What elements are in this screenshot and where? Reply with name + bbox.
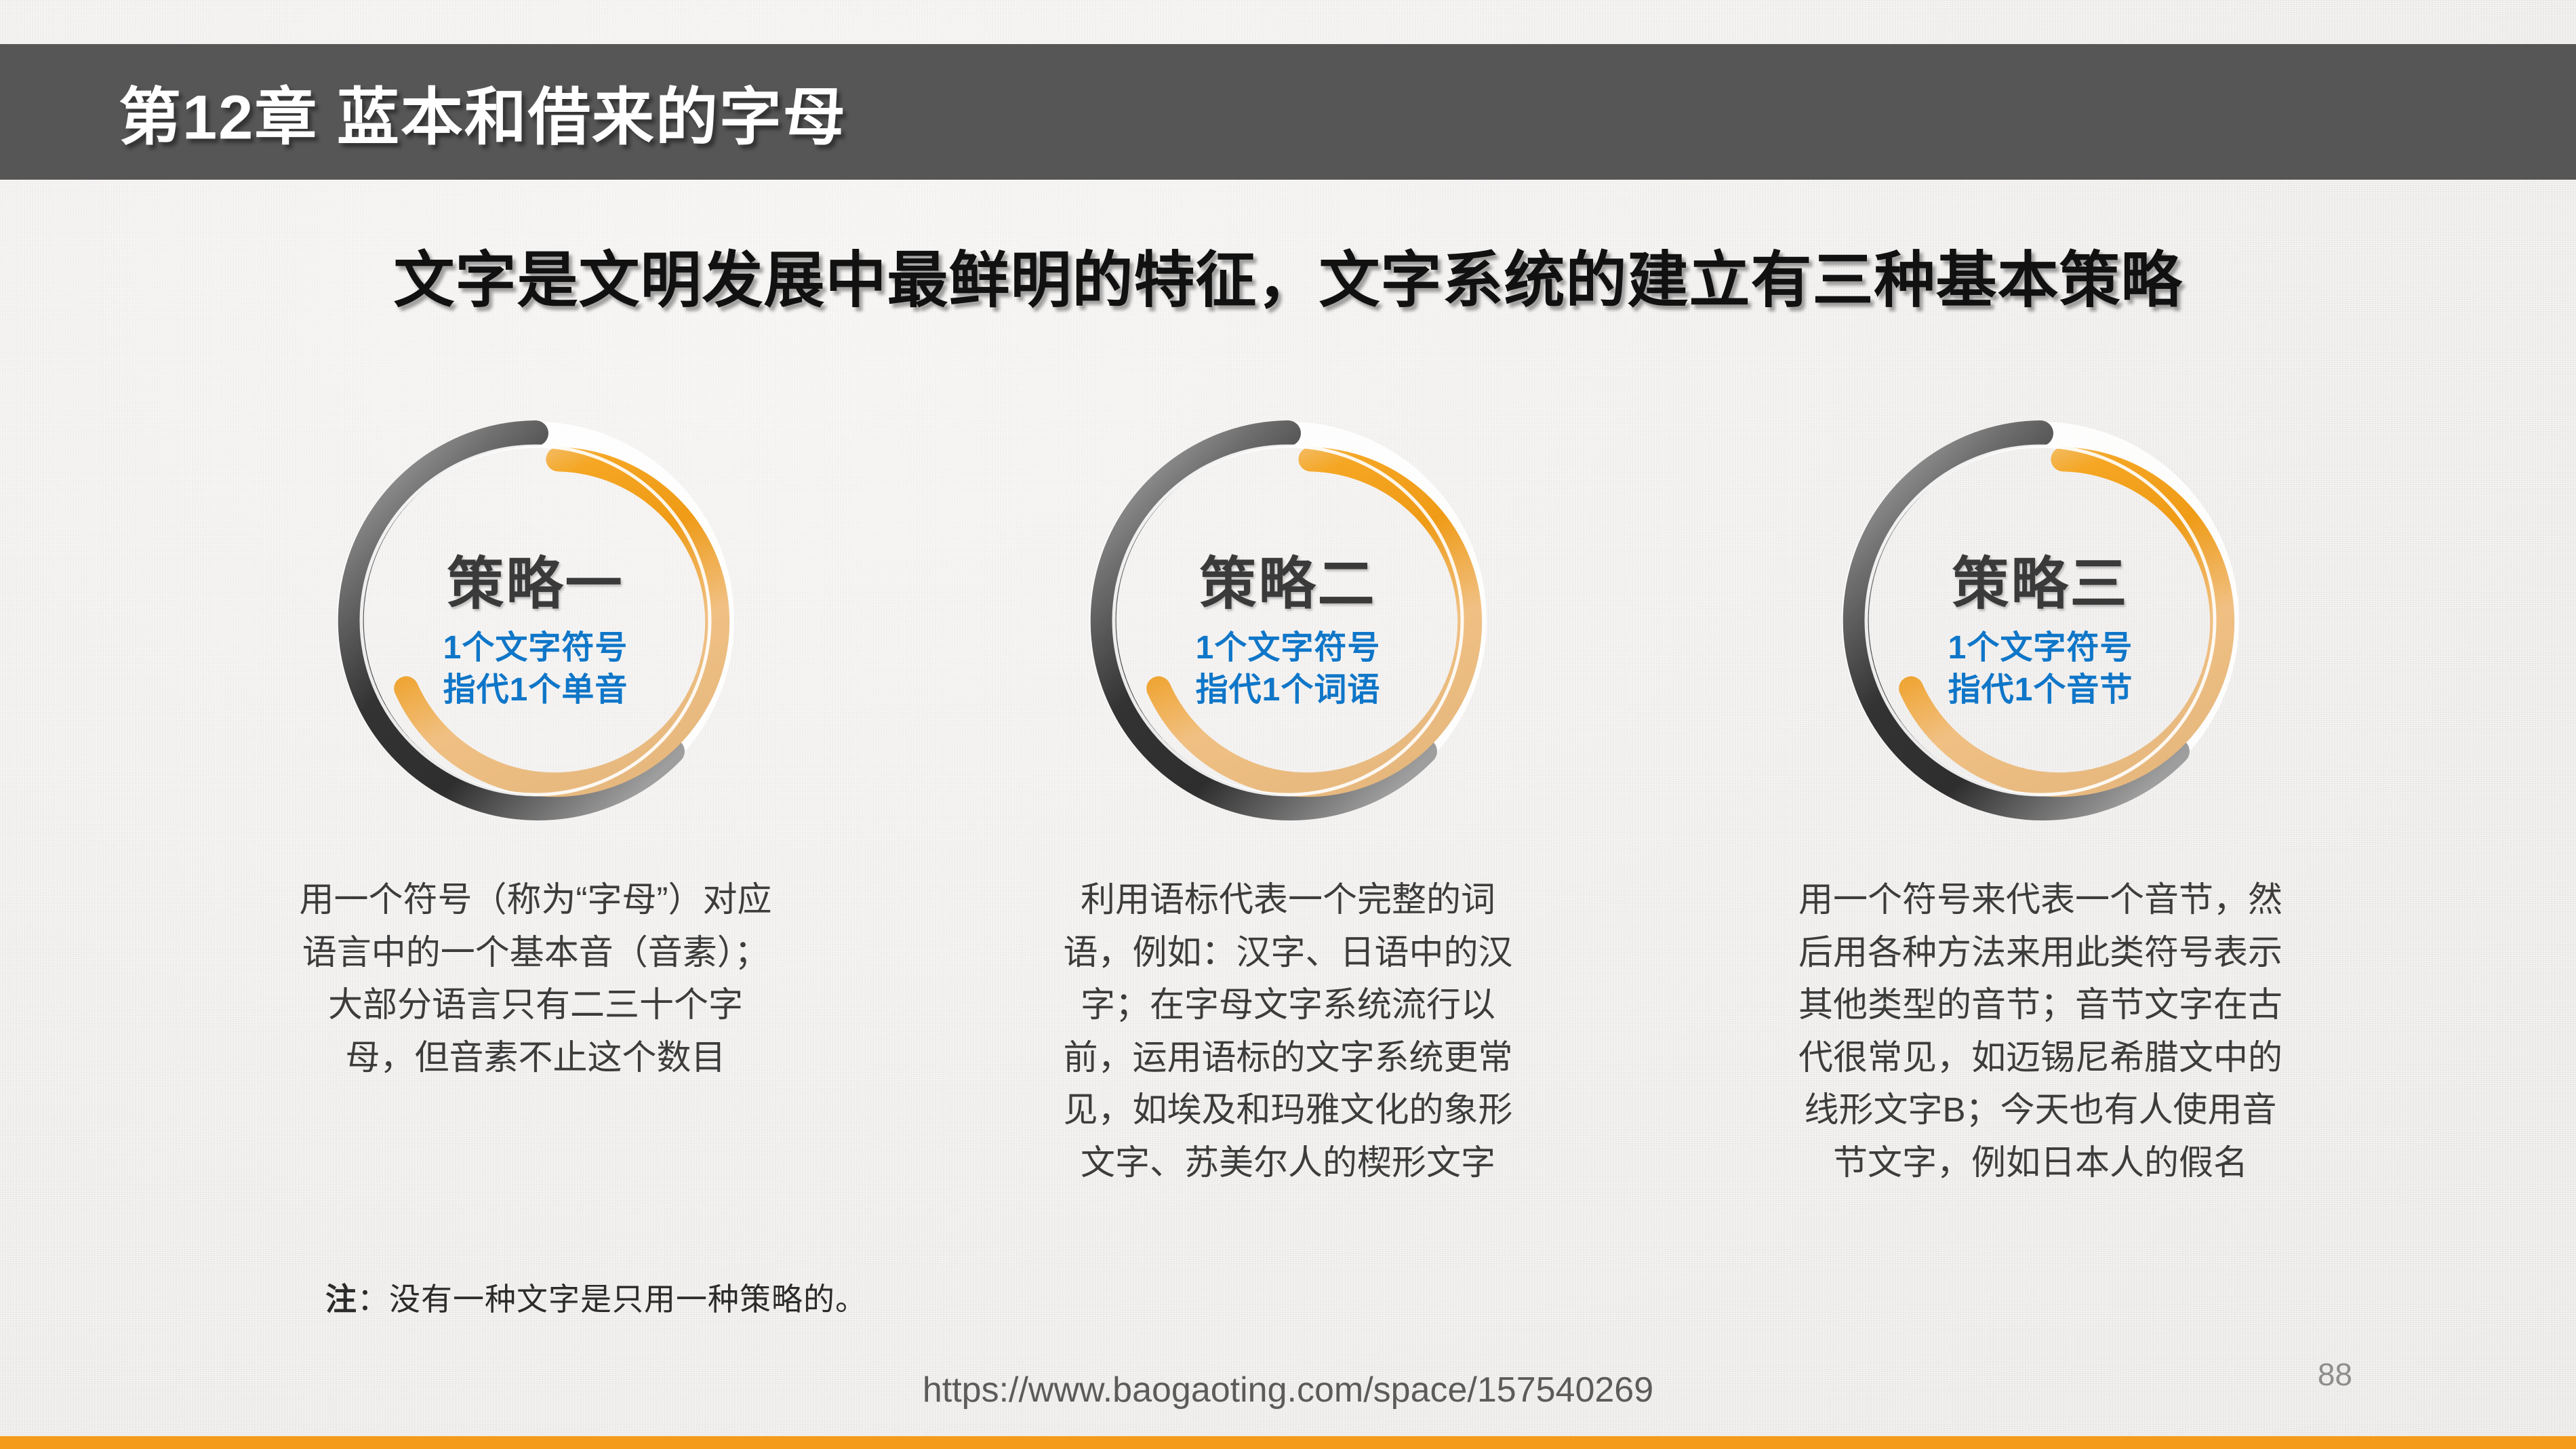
strategy-subtitle-line2: 指代1个词语 [1196,669,1381,711]
strategy-subtitle-2: 1个文字符号 指代1个词语 [1196,627,1381,712]
chapter-title: 第12章 蓝本和借来的字母 [119,67,847,157]
strategy-title-3: 策略三 [1952,554,2129,614]
page-number: 88 [2318,1356,2352,1393]
strategy-ring-graphic-3: 策略三 1个文字符号 指代1个音节 [1827,407,2254,834]
strategy-ring-label-1: 策略一 1个文字符号 指代1个单音 [322,407,749,834]
footer-url[interactable]: https://www.baogaoting.com/space/1575402… [0,1370,2576,1410]
strategy-subtitle-line1: 1个文字符号 [1948,627,2133,669]
chapter-title-band: 第12章 蓝本和借来的字母 [0,44,2576,180]
footnote: 注：没有一种文字是只用一种策略的。 [325,1275,867,1319]
strategy-subtitle-line1: 1个文字符号 [1196,627,1381,669]
strategy-ring-label-2: 策略二 1个文字符号 指代1个词语 [1074,407,1502,834]
bottom-accent-bar [0,1436,2576,1449]
strategy-ring-graphic-2: 策略二 1个文字符号 指代1个词语 [1074,407,1502,834]
strategy-ring-label-3: 策略三 1个文字符号 指代1个音节 [1827,407,2254,834]
strategy-column-3: 策略三 1个文字符号 指代1个音节 用一个符号来代表一个音节，然后用各种方法来用… [1668,407,2413,1189]
strategy-subtitle-3: 1个文字符号 指代1个音节 [1948,627,2133,712]
strategy-body-3: 用一个符号来代表一个音节，然后用各种方法来用此类符号表示其他类型的音节；音节文字… [1790,873,2291,1189]
footnote-label: 注 [325,1282,357,1317]
footnote-text: ：没有一种文字是只用一种策略的。 [357,1282,867,1317]
strategy-column-2: 策略二 1个文字符号 指代1个词语 利用语标代表一个完整的词语，例如：汉字、日语… [915,407,1661,1189]
strategy-subtitle-line2: 指代1个单音 [443,669,628,711]
strategy-subtitle-line2: 指代1个音节 [1948,669,2133,711]
strategy-title-2: 策略二 [1199,554,1376,614]
strategy-body-2: 利用语标代表一个完整的词语，例如：汉字、日语中的汉字；在字母文字系统流行以前，运… [1051,873,1525,1189]
strategy-ring-graphic-1: 策略一 1个文字符号 指代1个单音 [322,407,749,834]
slide-canvas: 第12章 蓝本和借来的字母 文字是文明发展中最鲜明的特征，文字系统的建立有三种基… [0,0,2576,1449]
strategy-subtitle-line1: 1个文字符号 [443,627,628,669]
strategy-columns: 策略一 1个文字符号 指代1个单音 用一个符号（称为“字母”）对应语言中的一个基… [0,407,2576,1288]
strategy-column-1: 策略一 1个文字符号 指代1个单音 用一个符号（称为“字母”）对应语言中的一个基… [163,407,908,1084]
strategy-subtitle-1: 1个文字符号 指代1个单音 [443,627,628,712]
strategy-body-1: 用一个符号（称为“字母”）对应语言中的一个基本音（音素）；大部分语言只有二三十个… [298,873,773,1084]
strategy-title-1: 策略一 [447,554,624,614]
main-heading: 文字是文明发展中最鲜明的特征，文字系统的建立有三种基本策略 [0,231,2576,319]
